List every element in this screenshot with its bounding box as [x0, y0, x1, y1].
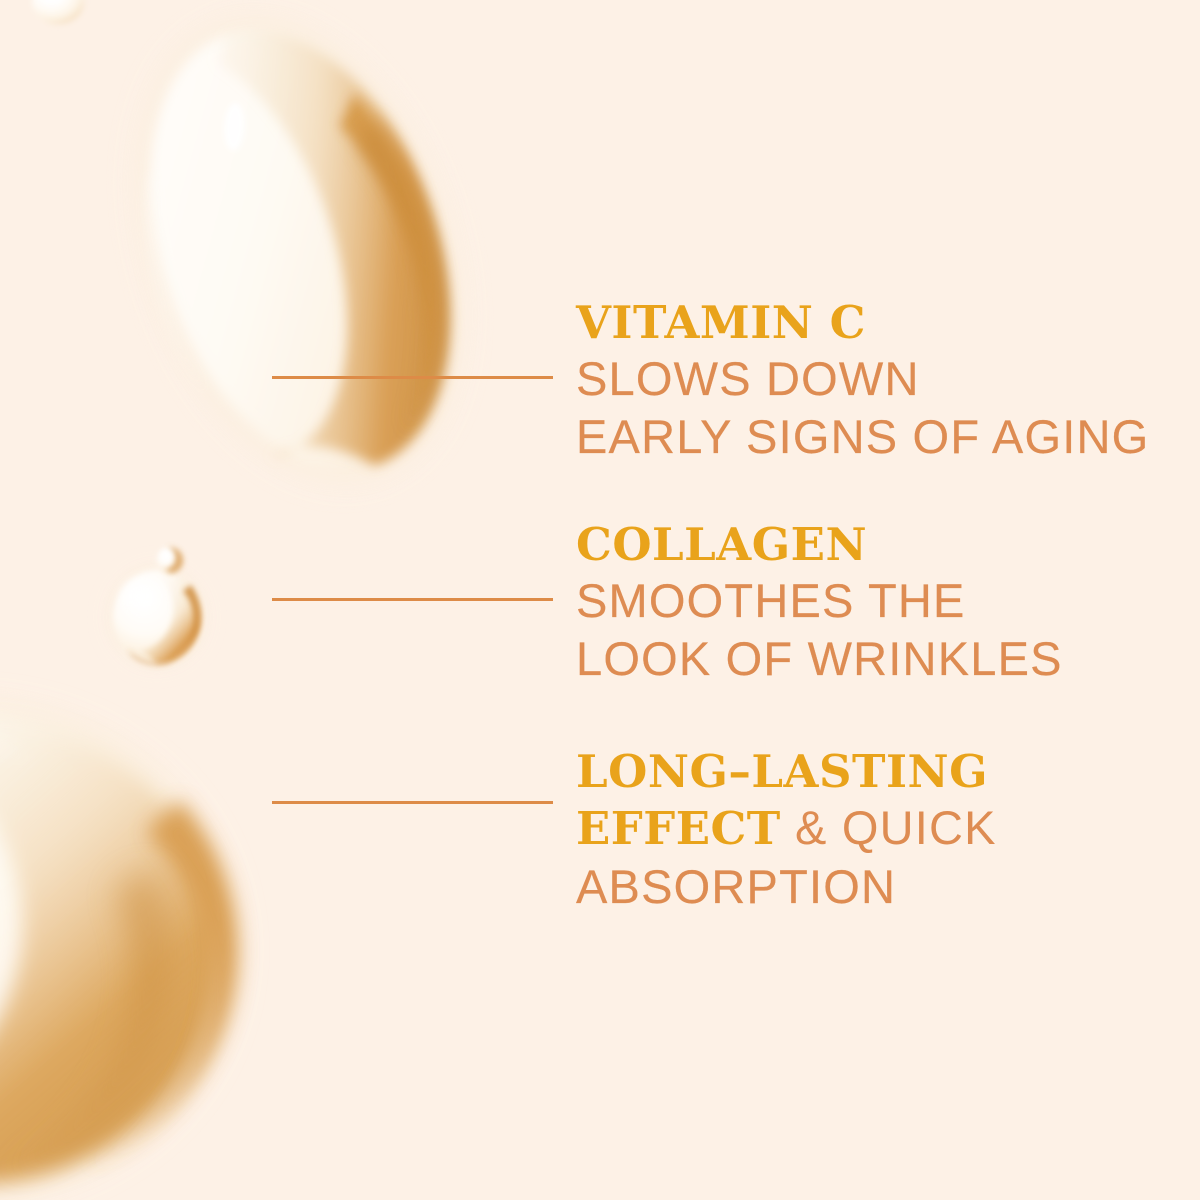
- benefit-line: LOOK OF WRINKLES: [576, 630, 1063, 688]
- benefit-heading: COLLAGEN: [576, 518, 1063, 572]
- benefit-mixed-line: EFFECT & QUICK: [576, 799, 997, 858]
- benefit-mixed-rest: & QUICK: [781, 801, 997, 854]
- benefit-heading: VITAMIN C: [576, 296, 1149, 350]
- benefit-block-vitamin-c: VITAMIN C SLOWS DOWN EARLY SIGNS OF AGIN…: [576, 296, 1149, 466]
- benefit-line: SMOOTHES THE: [576, 572, 1063, 630]
- connector-rule-3: [272, 801, 553, 804]
- benefit-line: SLOWS DOWN: [576, 350, 1149, 408]
- benefit-line: EARLY SIGNS OF AGING: [576, 408, 1149, 466]
- benefit-block-collagen: COLLAGEN SMOOTHES THE LOOK OF WRINKLES: [576, 518, 1063, 688]
- connector-rule-1: [272, 376, 553, 379]
- product-benefits-graphic: VITAMIN C SLOWS DOWN EARLY SIGNS OF AGIN…: [0, 0, 1200, 1200]
- serum-blob-large-top-left: [83, 0, 515, 521]
- benefit-heading: LONG–LASTING: [576, 745, 997, 799]
- benefit-line: ABSORPTION: [576, 858, 997, 916]
- serum-droplet-medium: [109, 567, 205, 667]
- serum-droplet-corner-top: [32, 0, 84, 24]
- connector-rule-2: [272, 598, 553, 601]
- serum-blob-bottom-left: [0, 705, 238, 1195]
- serum-bubble-tiny: [157, 547, 183, 573]
- benefit-mixed-strong: EFFECT: [576, 802, 781, 855]
- benefit-block-long-lasting: LONG–LASTING EFFECT & QUICK ABSORPTION: [576, 745, 997, 916]
